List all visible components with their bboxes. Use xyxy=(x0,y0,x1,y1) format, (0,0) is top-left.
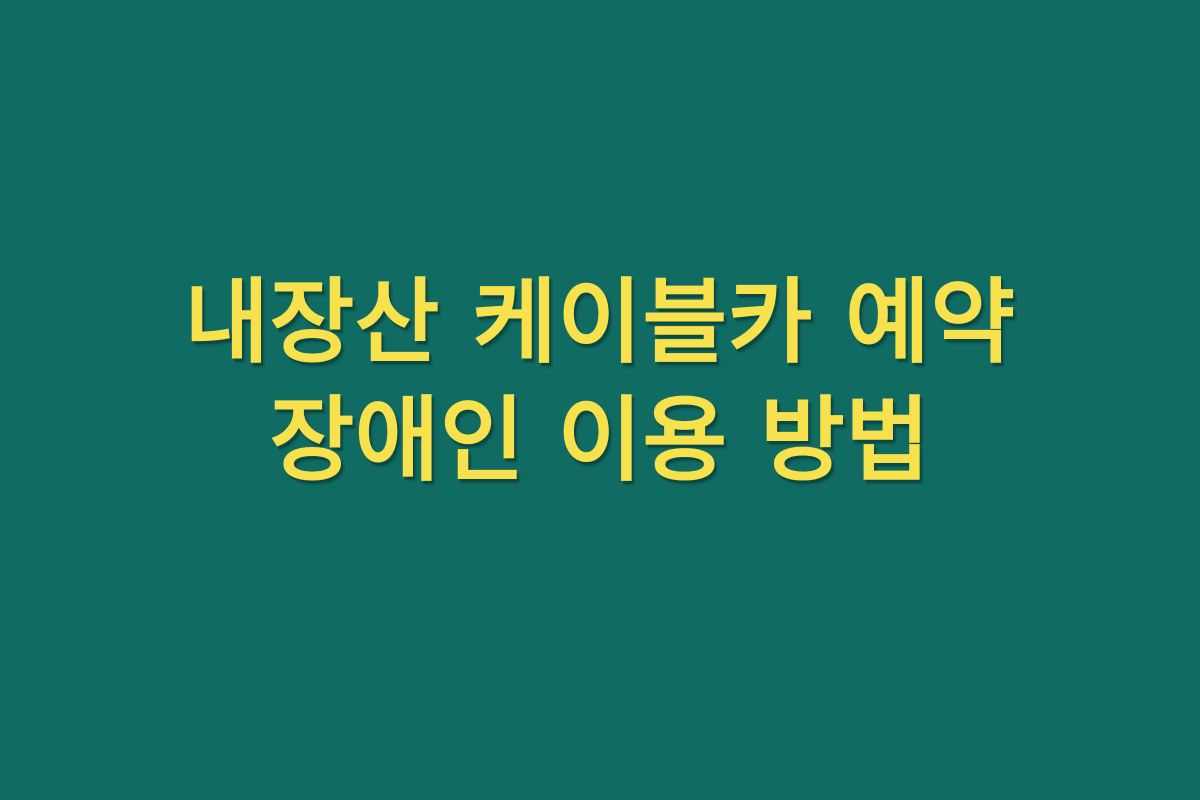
title-line-2: 장애인 이용 방법 xyxy=(0,382,1200,500)
page-title: 내장산 케이블카 예약 장애인 이용 방법 xyxy=(0,264,1200,500)
title-line-1: 내장산 케이블카 예약 xyxy=(0,264,1200,382)
title-card: 내장산 케이블카 예약 장애인 이용 방법 xyxy=(0,0,1200,800)
